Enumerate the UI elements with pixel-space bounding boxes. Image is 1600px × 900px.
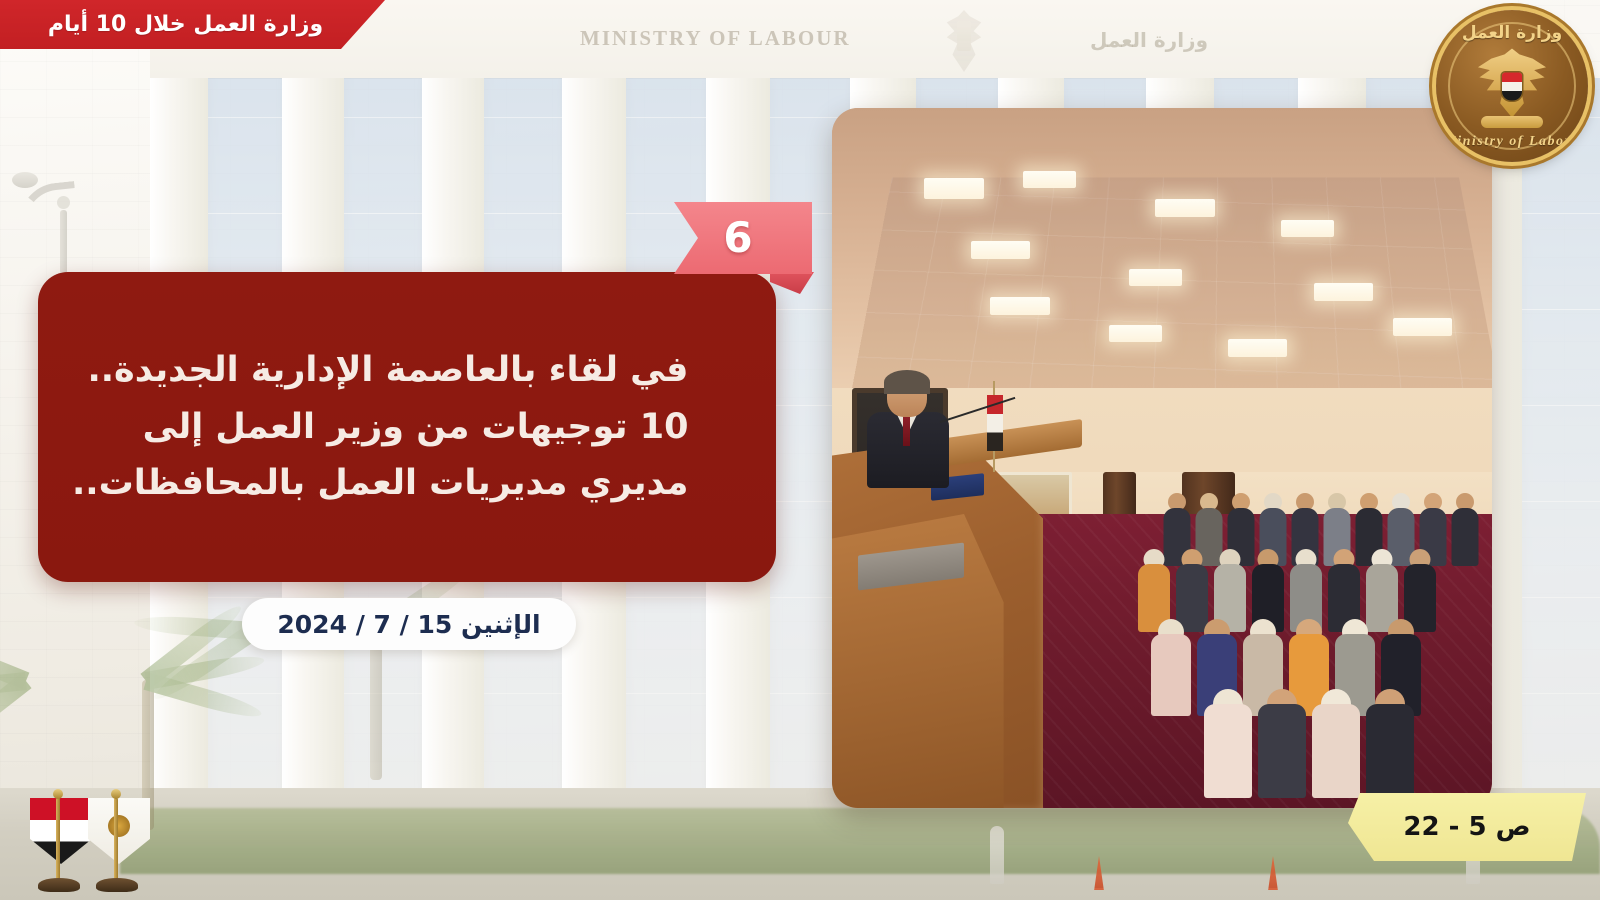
headline-card: في لقاء بالعاصمة الإدارية الجديدة.. 10 ت… — [38, 272, 776, 582]
item-number-ribbon: 6 — [640, 202, 818, 288]
seal-arabic-label: وزارة العمل — [1436, 23, 1588, 43]
seal-english-label: Ministry of Labour — [1436, 134, 1588, 150]
building-sign-english: MINISTRY OF LABOUR — [580, 26, 851, 51]
event-photo — [832, 108, 1492, 808]
photo-speaker-minister — [865, 374, 951, 486]
flag-rod — [56, 798, 60, 880]
building-sign-arabic: وزارة العمل — [1090, 28, 1208, 52]
ministry-flag-emblem-icon — [108, 815, 130, 837]
date-label: الإثنين 15 / 7 / 2024 — [277, 610, 540, 639]
ministry-flag-icon — [88, 798, 150, 864]
flag-rod — [114, 798, 118, 880]
item-number-label: 6 — [699, 217, 752, 259]
ministry-logo-seal: وزارة العمل Ministry of Labour — [1436, 10, 1588, 162]
flag-stand — [96, 878, 138, 892]
desk-flags-group — [12, 742, 232, 892]
eagle-emblem-icon — [940, 10, 988, 72]
egypt-flag-shield-icon — [1502, 73, 1522, 101]
ribbon-body: 6 — [640, 202, 812, 274]
flag-stand — [38, 878, 80, 892]
palm-tree-icon — [286, 550, 466, 780]
date-badge: الإثنين 15 / 7 / 2024 — [242, 598, 576, 650]
bollard-icon — [990, 826, 1004, 884]
photo-audience-row — [1202, 689, 1416, 807]
page-reference-badge: ص 5 - 22 — [1348, 793, 1586, 861]
egypt-flag-icon — [30, 798, 92, 864]
headline-text: في لقاء بالعاصمة الإدارية الجديدة.. 10 ت… — [38, 342, 730, 512]
campaign-banner: وزارة العمل خلال 10 أيام — [0, 0, 385, 49]
seal-scroll-banner — [1481, 116, 1543, 128]
campaign-banner-label: وزارة العمل خلال 10 أيام — [48, 12, 337, 37]
page-reference-label: ص 5 - 22 — [1403, 812, 1530, 842]
